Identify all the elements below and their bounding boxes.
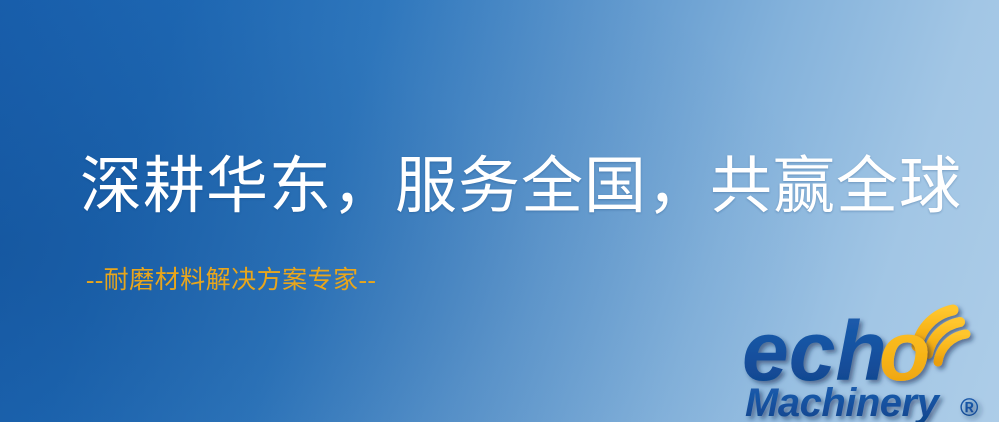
registered-trademark-icon: ® <box>960 394 979 422</box>
logo-tagline-text: Machinery <box>745 381 941 422</box>
logo-artwork: ech o Machinery ® <box>742 296 999 422</box>
echo-machinery-logo[interactable]: ech o Machinery ® <box>742 296 999 422</box>
banner-headline: 深耕华东，服务全国，共赢全球 <box>80 152 962 222</box>
promo-banner: 深耕华东，服务全国，共赢全球 --耐磨材料解决方案专家-- <box>0 0 999 422</box>
logo-tagline: Machinery ® <box>745 381 979 422</box>
banner-subtitle: --耐磨材料解决方案专家-- <box>86 266 376 296</box>
